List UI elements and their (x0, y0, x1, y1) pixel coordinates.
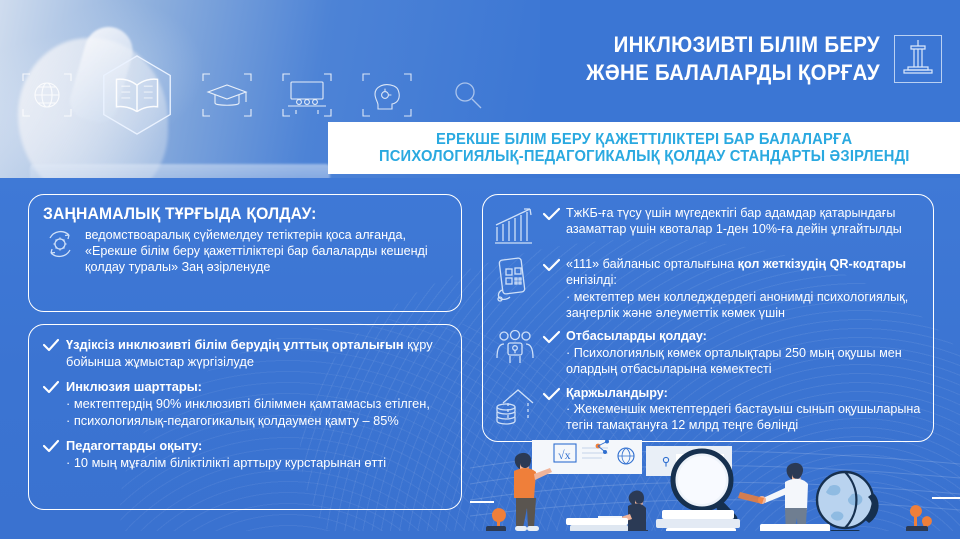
house-coins-icon (493, 385, 537, 429)
list-item: Отбасыларды қолдау: · Психологиялық көме… (493, 328, 921, 377)
gear-process-icon (43, 227, 77, 266)
list-item: Қаржыландыру: · Жекеменшік мектептердегі… (493, 385, 921, 434)
item-1-line-0: · мектептердің 90% инклюзивті біліммен қ… (66, 396, 430, 413)
page-title-line1: ИНКЛЮЗИВТІ БІЛІМ БЕРУ (586, 31, 880, 59)
initiatives-card: Үздіксіз инклюзивті білім берудің ұлттық… (28, 324, 462, 510)
classroom-icon (274, 62, 340, 128)
item-1-bold: Инклюзия шарттары: (66, 379, 202, 394)
family-group-icon (493, 328, 537, 372)
banner-line-1: ЕРЕКШЕ БІЛІМ БЕРУ ҚАЖЕТТІЛІКТЕРІ БАР БАЛ… (436, 131, 852, 148)
right-item-2-bold: Отбасыларды қолдау: (566, 329, 707, 343)
list-item: ТжКБ-ға түсу үшін мүгедектігі бар адамда… (493, 205, 921, 249)
item-1-line-1: · психологиялық-педагогикалық қолдаумен … (66, 413, 430, 430)
check-icon (43, 380, 59, 399)
magnifier-icon (434, 62, 500, 128)
list-item: Инклюзия шарттары: · мектептердің 90% ин… (43, 379, 447, 429)
right-item-1-bold: қол жеткізудің QR-кодтары (738, 257, 906, 271)
right-item-3-bold: Қаржыландыру: (566, 386, 668, 400)
right-item-3-line-0: · Жекеменшік мектептердегі бастауыш сыны… (566, 401, 921, 434)
check-icon (43, 338, 59, 357)
government-building-emblem (894, 35, 942, 83)
open-book-icon (94, 52, 180, 138)
item-0-bold: Үздіксіз инклюзивті білім берудің ұлттық… (66, 337, 404, 352)
growth-bar-chart-icon (493, 205, 537, 249)
banner-line-2: ПСИХОЛОГИЯЛЫҚ-ПЕДАГОГИКАЛЫҚ ҚОЛДАУ СТАНД… (379, 148, 910, 166)
item-2-bold: Педагогтарды оқыту: (66, 438, 202, 453)
graduation-cap-icon (194, 62, 260, 128)
check-icon (543, 258, 560, 277)
globe-icon (14, 62, 80, 128)
header-title-block: ИНКЛЮЗИВТІ БІЛІМ БЕРУ ЖӘНЕ БАЛАЛАРДЫ ҚОР… (564, 31, 880, 87)
check-icon (543, 207, 560, 226)
phone-qr-code-icon (493, 256, 537, 300)
page-header: ИНКЛЮЗИВТІ БІЛІМ БЕРУ ЖӘНЕ БАЛАЛАРДЫ ҚОР… (540, 0, 960, 118)
subtitle-banner: ЕРЕКШЕ БІЛІМ БЕРУ ҚАЖЕТТІЛІКТЕРІ БАР БАЛ… (328, 122, 960, 174)
list-item: Үздіксіз инклюзивті білім берудің ұлттық… (43, 337, 447, 370)
right-item-0-text: ТжКБ-ға түсу үшін мүгедектігі бар адамда… (566, 205, 921, 238)
list-item: Педагогтарды оқыту: · 10 мың мұғалім біл… (43, 438, 447, 471)
right-item-1-post: енгізілді: (566, 273, 617, 287)
check-icon (43, 439, 59, 458)
legal-support-card: ЗАҢНАМАЛЫҚ ТҰРҒЫДА ҚОЛДАУ: ведомствоарал… (28, 194, 462, 312)
item-2-line-0: · 10 мың мұғалім біліктілікті арттыру ку… (66, 455, 386, 472)
people-studying-illustration: √x (470, 438, 960, 539)
right-item-1-line-0: · мектептер мен колледждердегі анонимді … (566, 289, 921, 322)
measures-card: ТжКБ-ға түсу үшін мүгедектігі бар адамда… (482, 194, 934, 442)
legal-support-title: ЗАҢНАМАЛЫҚ ТҰРҒЫДА ҚОЛДАУ: (43, 205, 427, 224)
brain-icon (354, 62, 420, 128)
bottom-strip (0, 531, 960, 539)
page-title-line2: ЖӘНЕ БАЛАЛАРДЫ ҚОРҒАУ (586, 59, 880, 87)
svg-text:√x: √x (558, 448, 571, 462)
right-item-2-line-0: · Психологиялық көмек орталықтары 250 мы… (566, 345, 921, 378)
list-item: «111» байланыс орталығына қол жеткізудің… (493, 256, 921, 321)
hero-icon-strip (14, 60, 534, 130)
legal-support-text: ведомствоаралық сүйемелдеу тетіктерін қо… (85, 227, 447, 275)
right-item-1-pre: «111» байланыс орталығына (566, 257, 738, 271)
check-icon (543, 330, 560, 349)
check-icon (543, 387, 560, 406)
